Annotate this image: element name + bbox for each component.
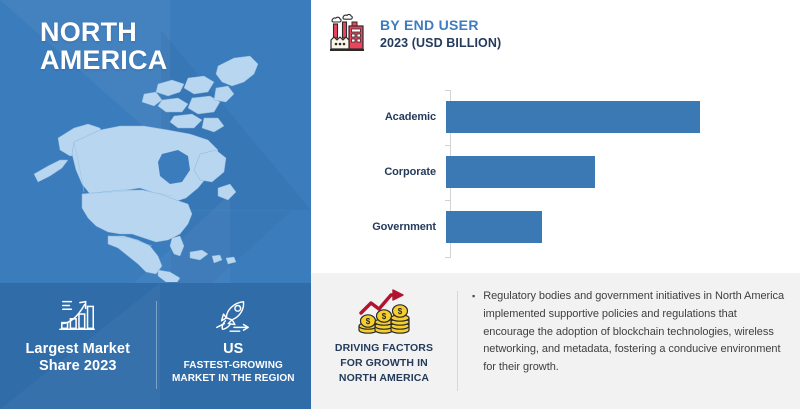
stats-divider xyxy=(156,301,157,389)
region-title: NORTH AMERICA xyxy=(40,18,167,74)
stat-label: Largest Market Share 2023 xyxy=(25,341,130,375)
coins-growth-arrow-icon: $ $ xyxy=(353,287,415,335)
rocket-icon xyxy=(211,295,255,335)
stat-fastest-growing-market: US FASTEST-GROWING MARKET IN THE REGION xyxy=(156,283,312,385)
stat-largest-market-share: Largest Market Share 2023 xyxy=(0,283,156,375)
svg-text:$: $ xyxy=(398,307,403,316)
chart-title: BY END USER xyxy=(380,17,501,33)
driving-title-line1: DRIVING FACTORS xyxy=(335,341,433,356)
driving-factors-title: DRIVING FACTORS FOR GROWTH IN NORTH AMER… xyxy=(335,341,433,387)
footer-panel: $ $ xyxy=(311,273,800,409)
chart-header: BY END USER 2023 (USD BILLION) xyxy=(327,13,501,55)
bar-row: Corporate xyxy=(327,156,787,188)
region-panel: NORTH AMERICA xyxy=(0,0,311,409)
stat-label: US xyxy=(223,341,243,358)
bar-row: Government xyxy=(327,211,787,243)
footer-body: ▪ Regulatory bodies and government initi… xyxy=(458,273,800,377)
stat-sublabel: FASTEST-GROWING MARKET IN THE REGION xyxy=(172,360,295,385)
north-america-map-icon xyxy=(12,42,302,282)
stat-label-line2: Share 2023 xyxy=(25,358,130,375)
bar-row: Academic xyxy=(327,101,787,133)
stat-sublabel-line1: FASTEST-GROWING xyxy=(172,360,295,373)
region-title-line1: NORTH xyxy=(40,18,167,46)
svg-text:$: $ xyxy=(366,317,371,326)
stat-sublabel-line2: MARKET IN THE REGION xyxy=(172,373,295,386)
bullet-icon: ▪ xyxy=(472,288,475,377)
axis-tick xyxy=(445,145,450,146)
bar-corporate[interactable] xyxy=(446,156,595,188)
factory-icon xyxy=(327,13,369,55)
stat-label-line1: Largest Market xyxy=(25,341,130,358)
chart-subtitle: 2023 (USD BILLION) xyxy=(380,36,501,51)
axis-tick xyxy=(445,200,450,201)
chart-title-group: BY END USER 2023 (USD BILLION) xyxy=(380,17,501,50)
bar-label: Government xyxy=(327,221,445,233)
region-title-line2: AMERICA xyxy=(40,46,167,74)
svg-text:$: $ xyxy=(382,312,387,321)
bar-government[interactable] xyxy=(446,211,542,243)
bar-academic[interactable] xyxy=(446,101,700,133)
growth-bar-chart-arrow-icon xyxy=(56,295,100,335)
bar-label: Corporate xyxy=(327,166,445,178)
axis-tick xyxy=(445,90,450,91)
axis-tick xyxy=(445,257,450,258)
driving-factors-block: $ $ xyxy=(311,273,457,387)
bar-label: Academic xyxy=(327,111,445,123)
driving-title-line3: NORTH AMERICA xyxy=(335,371,433,386)
stats-strip: Largest Market Share 2023 xyxy=(0,283,311,409)
infographic-root: NORTH AMERICA xyxy=(0,0,800,409)
stat-label-line1: US xyxy=(223,341,243,358)
footer-paragraph: Regulatory bodies and government initiat… xyxy=(483,288,786,377)
driving-title-line2: FOR GROWTH IN xyxy=(335,356,433,371)
bar-chart: Academic Corporate Government xyxy=(327,82,787,267)
